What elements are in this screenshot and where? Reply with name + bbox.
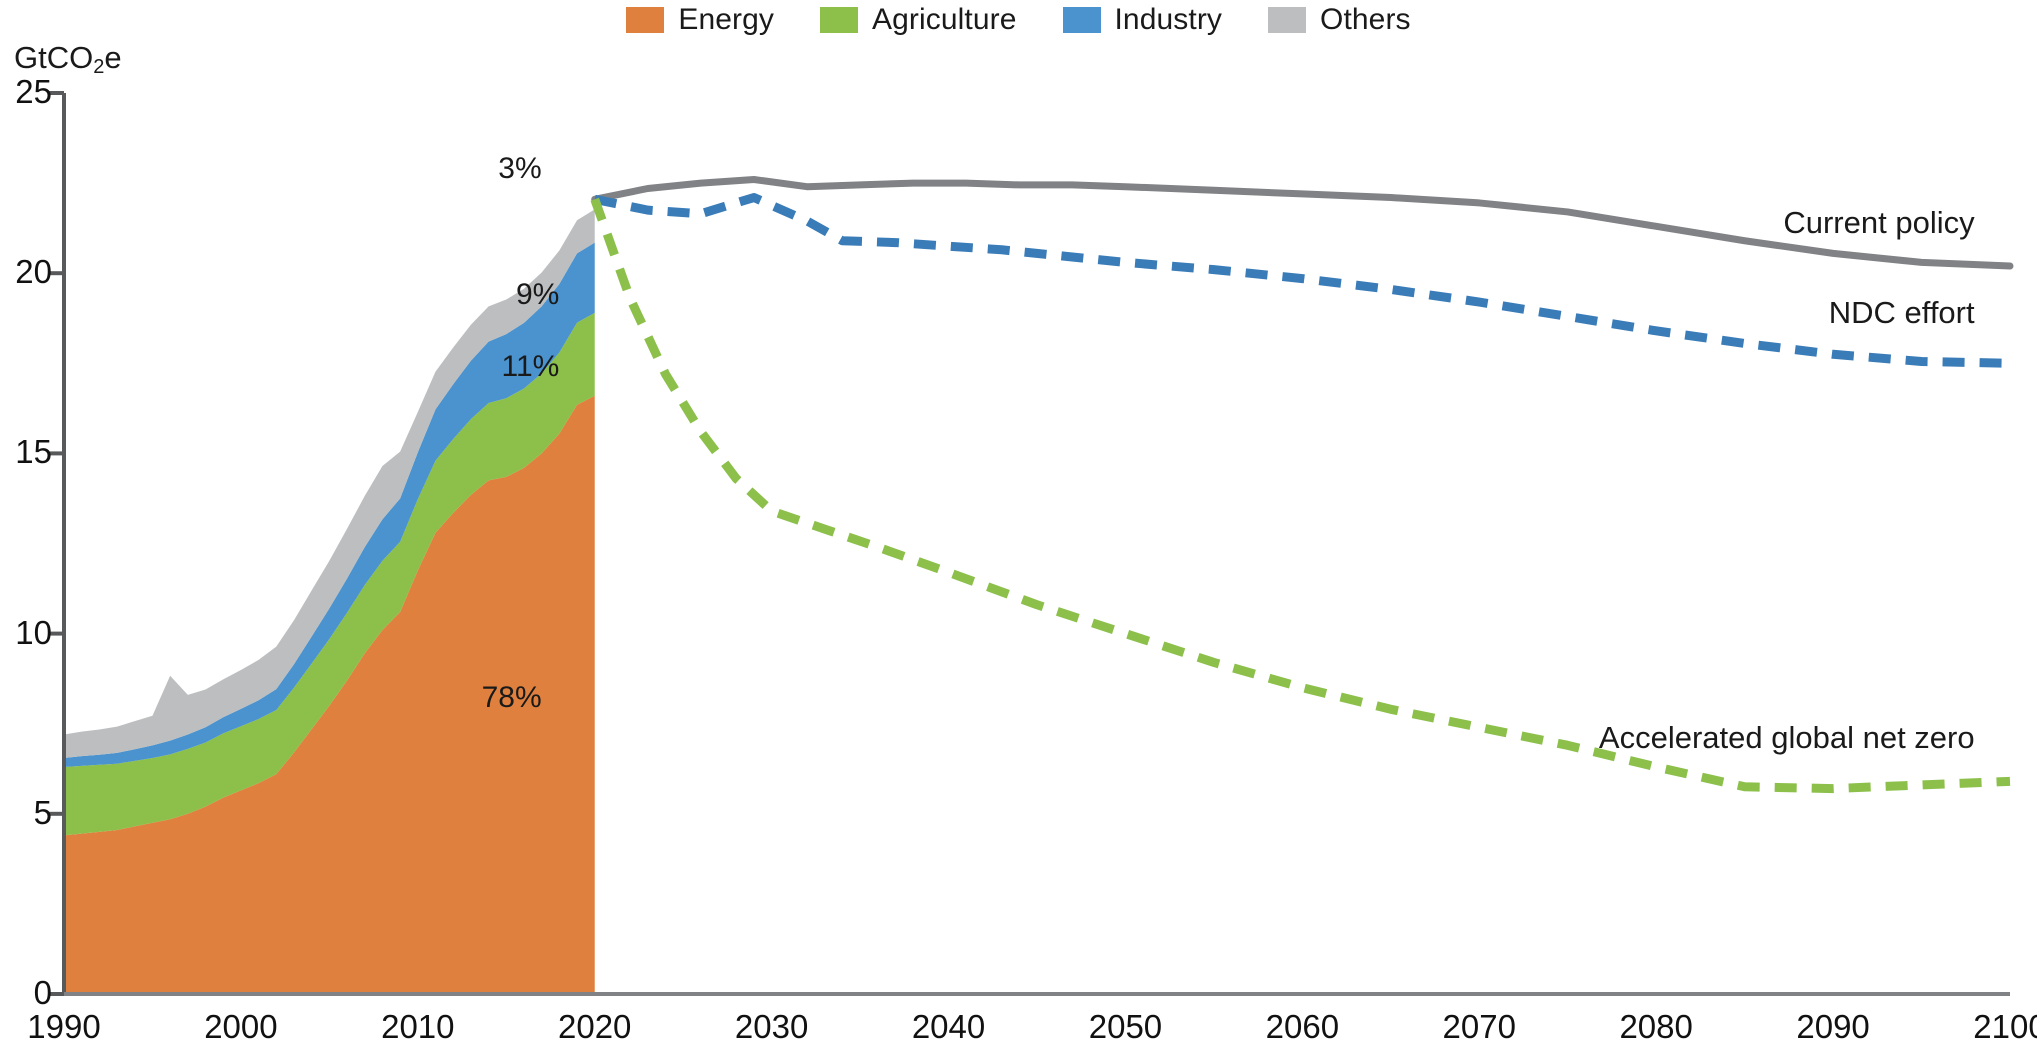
scenario-line-accelerated-global-net-zero bbox=[595, 199, 2010, 788]
scenario-line-current-policy bbox=[595, 179, 2010, 265]
scenario-line-ndc-effort bbox=[595, 198, 2010, 364]
chart-root: EnergyAgricultureIndustryOthers GtCO2e 0… bbox=[0, 0, 2037, 1062]
chart-plot-area bbox=[0, 0, 2037, 1062]
